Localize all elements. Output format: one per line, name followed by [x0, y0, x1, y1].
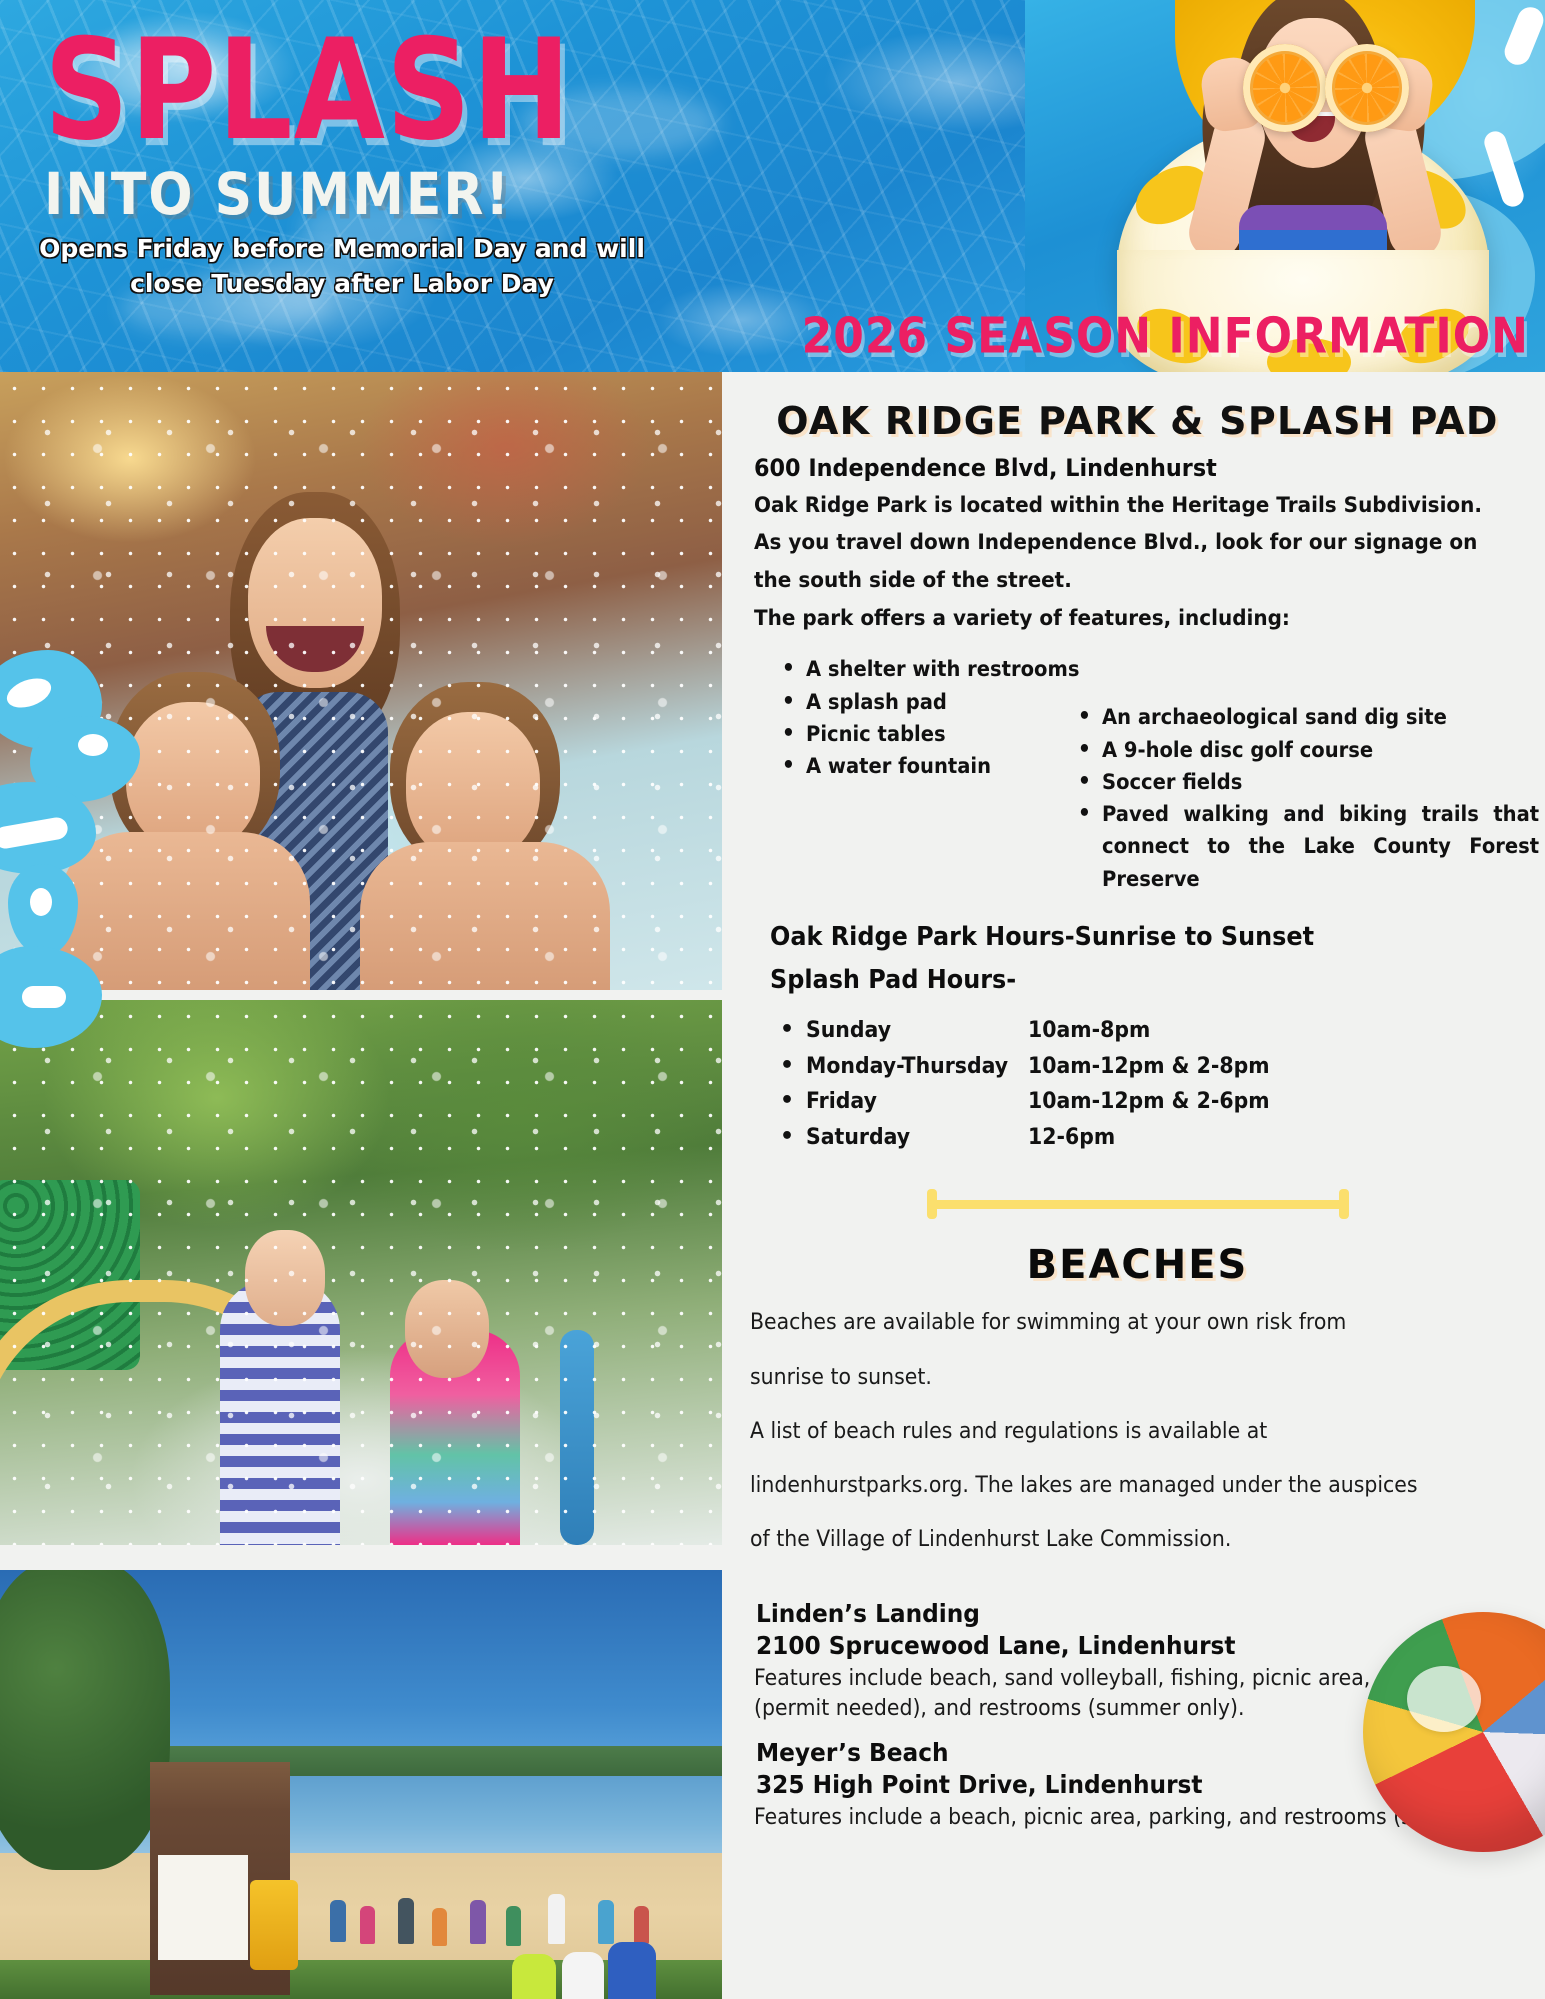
beaches-intro-line-1: Beaches are available for swimming at yo… — [750, 1307, 1545, 1339]
hours-time: 12-6pm — [1028, 1120, 1115, 1156]
hours-row: Friday10am-12pm & 2-6pm — [806, 1084, 1527, 1120]
hours-day: Monday-Thursday — [806, 1049, 1012, 1085]
park-description-line-4: The park offers a variety of features, i… — [754, 605, 1545, 634]
beaches-heading: BEACHES — [748, 1245, 1527, 1285]
beaches-intro-line-3: A list of beach rules and regulations is… — [750, 1416, 1545, 1448]
orange-slice-left-icon — [1243, 44, 1327, 132]
list-item: Paved walking and biking trails that con… — [1102, 798, 1539, 895]
hero-title: SPLASH — [44, 20, 572, 159]
hours-day: Friday — [806, 1084, 1012, 1120]
hero-subtitle: INTO SUMMER! — [44, 166, 511, 224]
park-description-line-1: Oak Ridge Park is located within the Her… — [754, 492, 1545, 521]
beaches-intro-line-5: of the Village of Lindenhurst Lake Commi… — [750, 1524, 1545, 1556]
list-item: Soccer fields — [1102, 766, 1545, 798]
beach-address-meyers-beach: 325 High Point Drive, Lindenhurst — [756, 1769, 1473, 1801]
splash-pad-hours-list: Sunday10am-8pm Monday-Thursday10am-12pm … — [748, 1013, 1527, 1156]
hours-row: Sunday10am-8pm — [806, 1013, 1527, 1049]
oak-ridge-address: 600 Independence Blvd, Lindenhurst — [754, 454, 1473, 483]
park-hours-title: Oak Ridge Park Hours-Sunrise to Sunset — [770, 919, 1466, 956]
beaches-intro-line-2: sunrise to sunset. — [750, 1362, 1545, 1394]
yellow-divider — [923, 1189, 1353, 1219]
park-description-line-3: the south side of the street. — [754, 567, 1545, 596]
hours-row: Saturday12-6pm — [806, 1120, 1527, 1156]
hours-row: Monday-Thursday10am-12pm & 2-8pm — [806, 1049, 1527, 1085]
beach-rules-sign — [158, 1855, 248, 1960]
season-information-banner: 2026 SEASON INFORMATION — [802, 312, 1529, 361]
information-panel: OAK RIDGE PARK & SPLASH PAD 600 Independ… — [722, 372, 1545, 1999]
hero-banner: SPLASH INTO SUMMER! Opens Friday before … — [0, 0, 1545, 372]
hours-day: Saturday — [806, 1120, 1012, 1156]
oak-ridge-heading: OAK RIDGE PARK & SPLASH PAD — [748, 402, 1527, 440]
hours-day: Sunday — [806, 1013, 1012, 1049]
splash-pad-spray-overlay — [0, 1000, 722, 1545]
emergency-equipment-box — [250, 1880, 298, 1970]
beach-address-lindens-landing: 2100 Sprucewood Lane, Lindenhurst — [756, 1630, 1473, 1662]
photo-lake-beach — [0, 1570, 722, 1999]
orange-slice-right-icon — [1325, 44, 1409, 132]
water-splash-graphic — [0, 650, 172, 1060]
hero-season-note: Opens Friday before Memorial Day and wil… — [22, 232, 662, 301]
flyer-page: SPLASH INTO SUMMER! Opens Friday before … — [0, 0, 1545, 1999]
photo-splash-pad-girls — [0, 1000, 722, 1545]
hours-time: 10am-12pm & 2-8pm — [1028, 1049, 1270, 1085]
splash-pad-hours-title: Splash Pad Hours- — [770, 962, 1466, 999]
beach-name-lindens-landing: Linden’s Landing — [756, 1598, 1473, 1630]
hours-time: 10am-8pm — [1028, 1013, 1150, 1049]
list-item: An archaeological sand dig site — [1102, 701, 1545, 733]
park-features-columns: A shelter with restrooms A splash pad Pi… — [748, 641, 1527, 913]
list-item: A 9-hole disc golf course — [1102, 734, 1545, 766]
park-features-right-list: An archaeological sand dig site A 9-hole… — [1044, 701, 1545, 895]
beach-ball-cap — [1407, 1666, 1481, 1732]
list-item: A shelter with restrooms — [806, 653, 1113, 685]
park-description-line-2: As you travel down Independence Blvd., l… — [754, 529, 1545, 558]
hours-time: 10am-12pm & 2-6pm — [1028, 1084, 1270, 1120]
beaches-intro-line-4: lindenhurstparks.org. The lakes are mana… — [750, 1470, 1545, 1502]
